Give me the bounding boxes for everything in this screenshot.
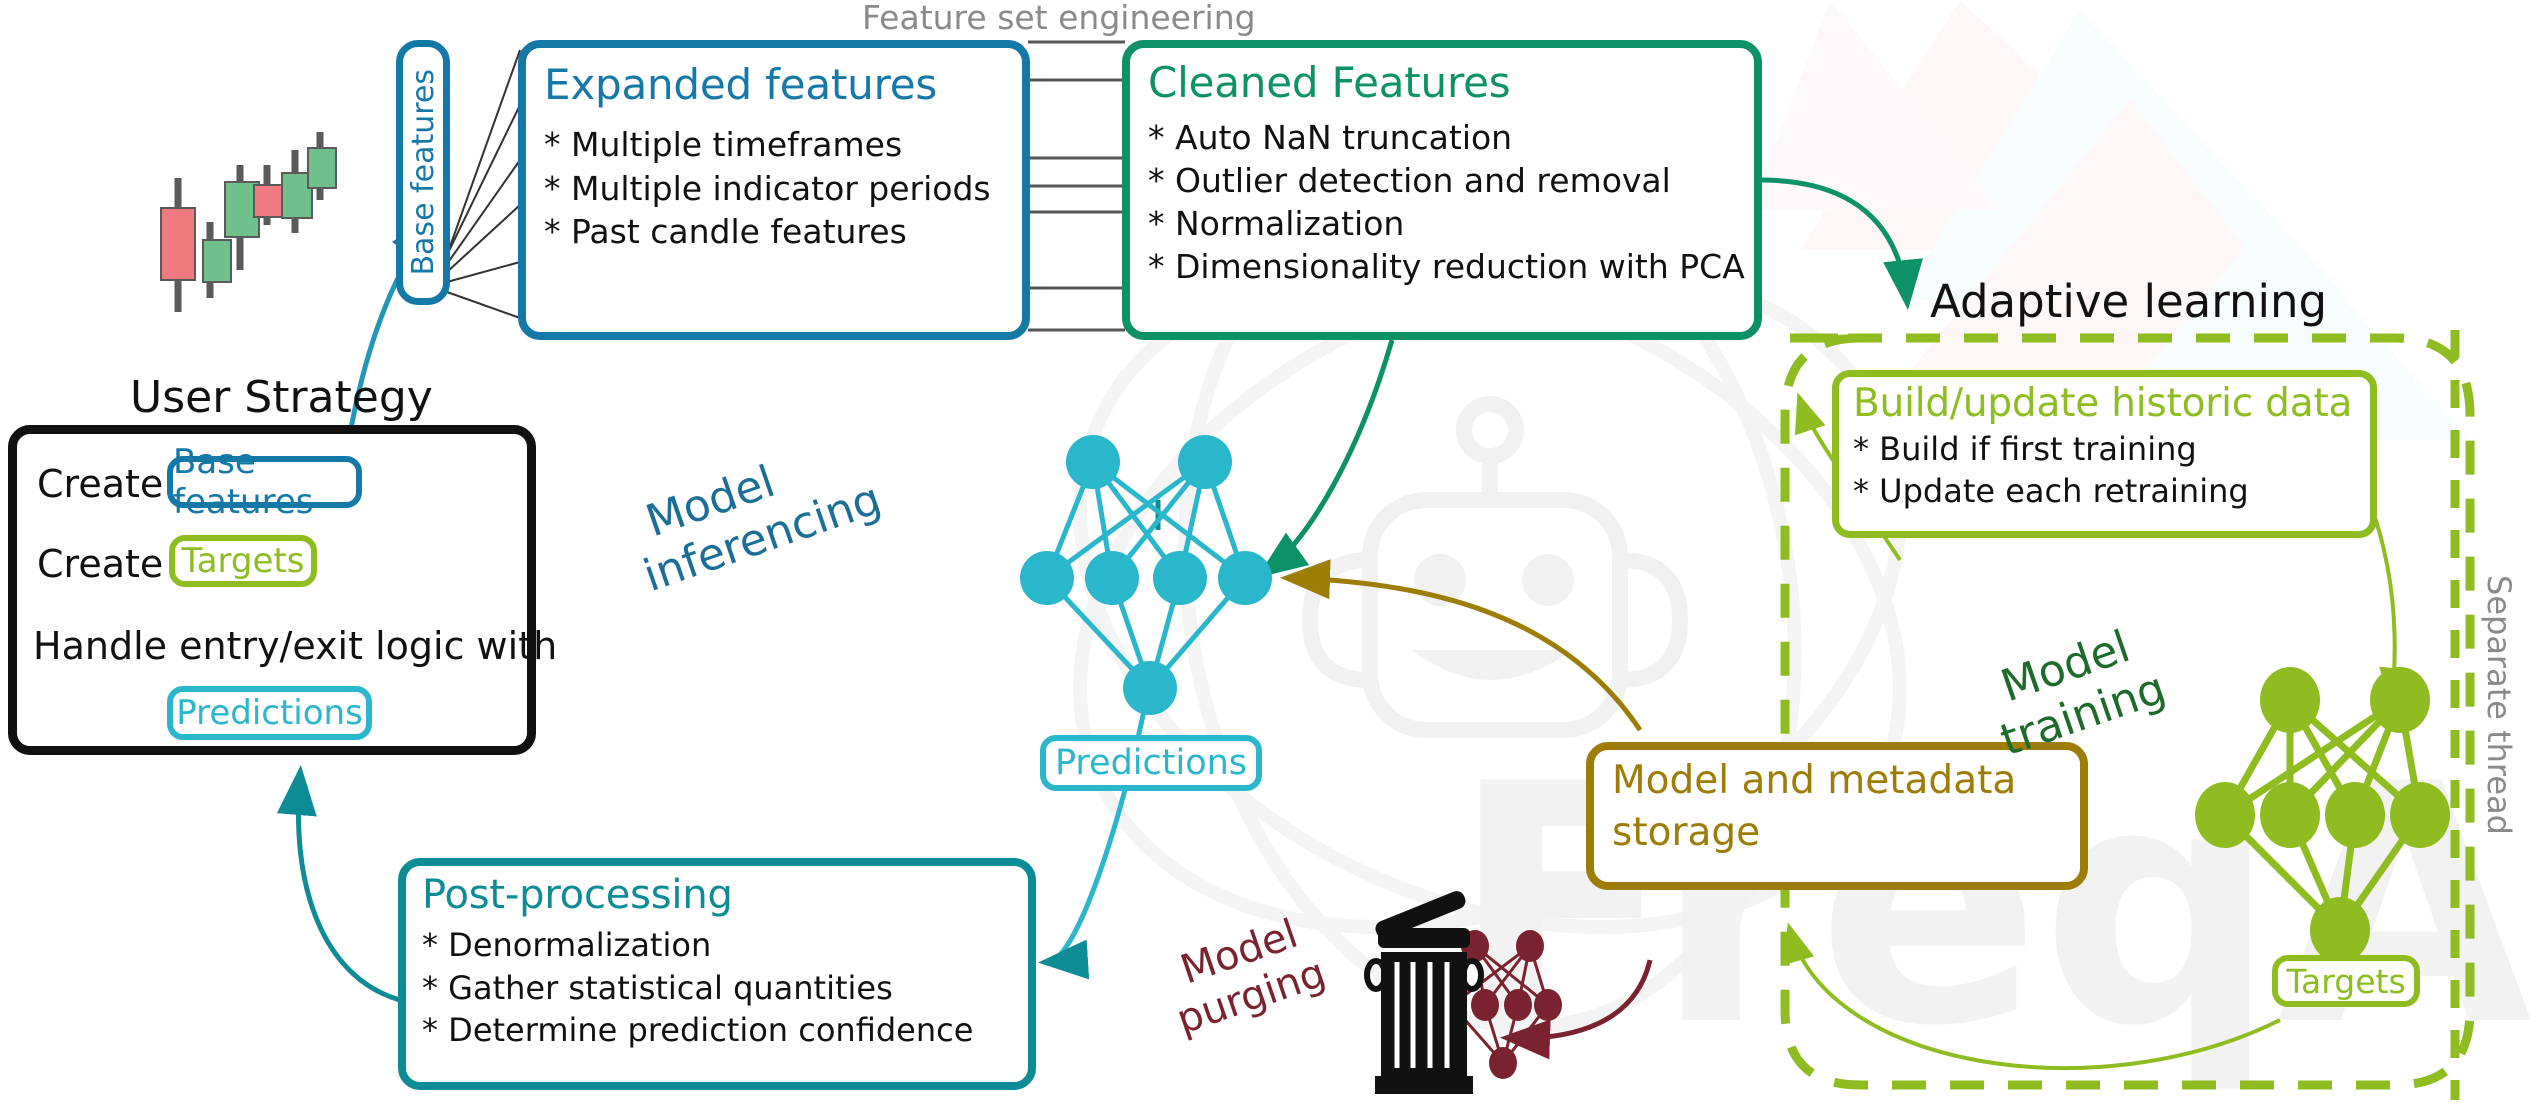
cleaned-features-bullet-1: * Auto NaN truncation (1148, 117, 1754, 160)
expanded-features-title: Expanded features (544, 60, 1022, 109)
cleaned-features-bullet-4: * Dimensionality reduction with PCA (1148, 246, 1754, 289)
pill-predictions-inference[interactable]: Predictions (1040, 735, 1262, 791)
pill-base-features-strategy[interactable]: Base features (167, 456, 362, 508)
user-strategy-line1-prefix: Create (37, 462, 163, 506)
post-processing-bullet-3: * Determine prediction confidence (422, 1009, 1028, 1052)
pill-base-features-vertical[interactable]: Base features (396, 40, 450, 305)
expanded-features-bullet-1: * Multiple timeframes (544, 123, 1022, 167)
separate-thread-label: Separate thread (2480, 575, 2518, 835)
pill-predictions-inference-label: Predictions (1055, 743, 1247, 783)
pill-base-features-strategy-label: Base features (173, 442, 356, 522)
pill-targets-training-label: Targets (2286, 962, 2405, 1001)
post-processing-title: Post-processing (422, 872, 1028, 918)
pill-targets-strategy[interactable]: Targets (169, 535, 317, 587)
box-build-update-historic-data[interactable]: Build/update historic data * Build if fi… (1832, 370, 2377, 538)
expanded-features-bullet-2: * Multiple indicator periods (544, 167, 1022, 211)
box-user-strategy[interactable]: Create Base features Create Targets Hand… (8, 425, 536, 755)
feature-set-engineering-label: Feature set engineering (862, 0, 1256, 37)
build-update-bullet-1: * Build if first training (1853, 428, 2370, 470)
build-update-bullet-2: * Update each retraining (1853, 470, 2370, 512)
pill-predictions-strategy[interactable]: Predictions (167, 686, 372, 740)
pill-predictions-strategy-label: Predictions (176, 693, 363, 733)
pill-base-features-label: Base features (406, 69, 441, 276)
user-strategy-line2-prefix: Create (37, 542, 163, 586)
cleaned-features-bullet-3: * Normalization (1148, 203, 1754, 246)
post-processing-bullet-2: * Gather statistical quantities (422, 967, 1028, 1010)
box-expanded-features[interactable]: Expanded features * Multiple timeframes … (518, 40, 1030, 340)
diagram-canvas: FreqAI (0, 0, 2539, 1104)
box-post-processing[interactable]: Post-processing * Denormalization * Gath… (398, 858, 1036, 1090)
box-cleaned-features[interactable]: Cleaned Features * Auto NaN truncation *… (1122, 40, 1762, 340)
adaptive-learning-label: Adaptive learning (1930, 275, 2327, 328)
expanded-features-bullet-3: * Past candle features (544, 210, 1022, 254)
model-storage-line1: Model and metadata (1612, 758, 2016, 803)
user-strategy-line3-text: Handle entry/exit logic with (33, 624, 557, 668)
model-storage-line2: storage (1612, 810, 1760, 855)
pill-targets-training[interactable]: Targets (2272, 955, 2420, 1007)
user-strategy-heading: User Strategy (130, 372, 433, 423)
cleaned-features-title: Cleaned Features (1148, 58, 1754, 107)
post-processing-bullet-1: * Denormalization (422, 924, 1028, 967)
pill-targets-strategy-label: Targets (182, 541, 305, 581)
build-update-title: Build/update historic data (1853, 381, 2370, 426)
cleaned-features-bullet-2: * Outlier detection and removal (1148, 160, 1754, 203)
